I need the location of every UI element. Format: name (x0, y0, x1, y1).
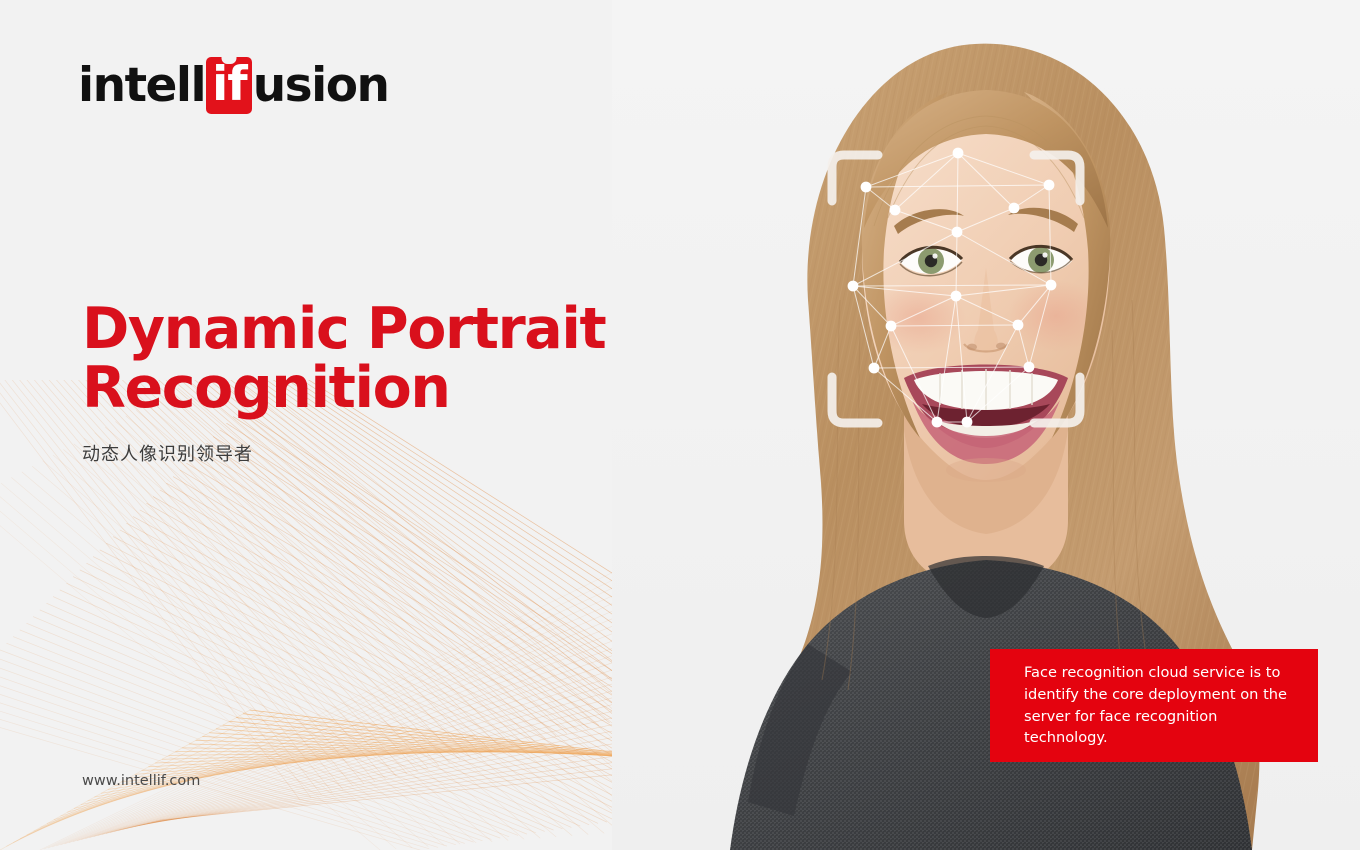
slide-canvas: intell if usion Dynamic Portrait Recogni… (0, 0, 1360, 850)
brand-logo[interactable]: intell if usion (78, 57, 389, 113)
callout-text: Face recognition cloud service is to ide… (990, 662, 1290, 750)
logo-text-right: usion (253, 62, 389, 109)
logo-badge-if: if (206, 57, 252, 114)
page-title: Dynamic Portrait Recognition (82, 300, 605, 417)
callout-card: Face recognition cloud service is to ide… (990, 649, 1318, 762)
logo-text-left: intell (78, 62, 205, 109)
website-url[interactable]: www.intellif.com (82, 773, 200, 789)
page-subtitle: 动态人像识别领导者 (82, 440, 253, 466)
